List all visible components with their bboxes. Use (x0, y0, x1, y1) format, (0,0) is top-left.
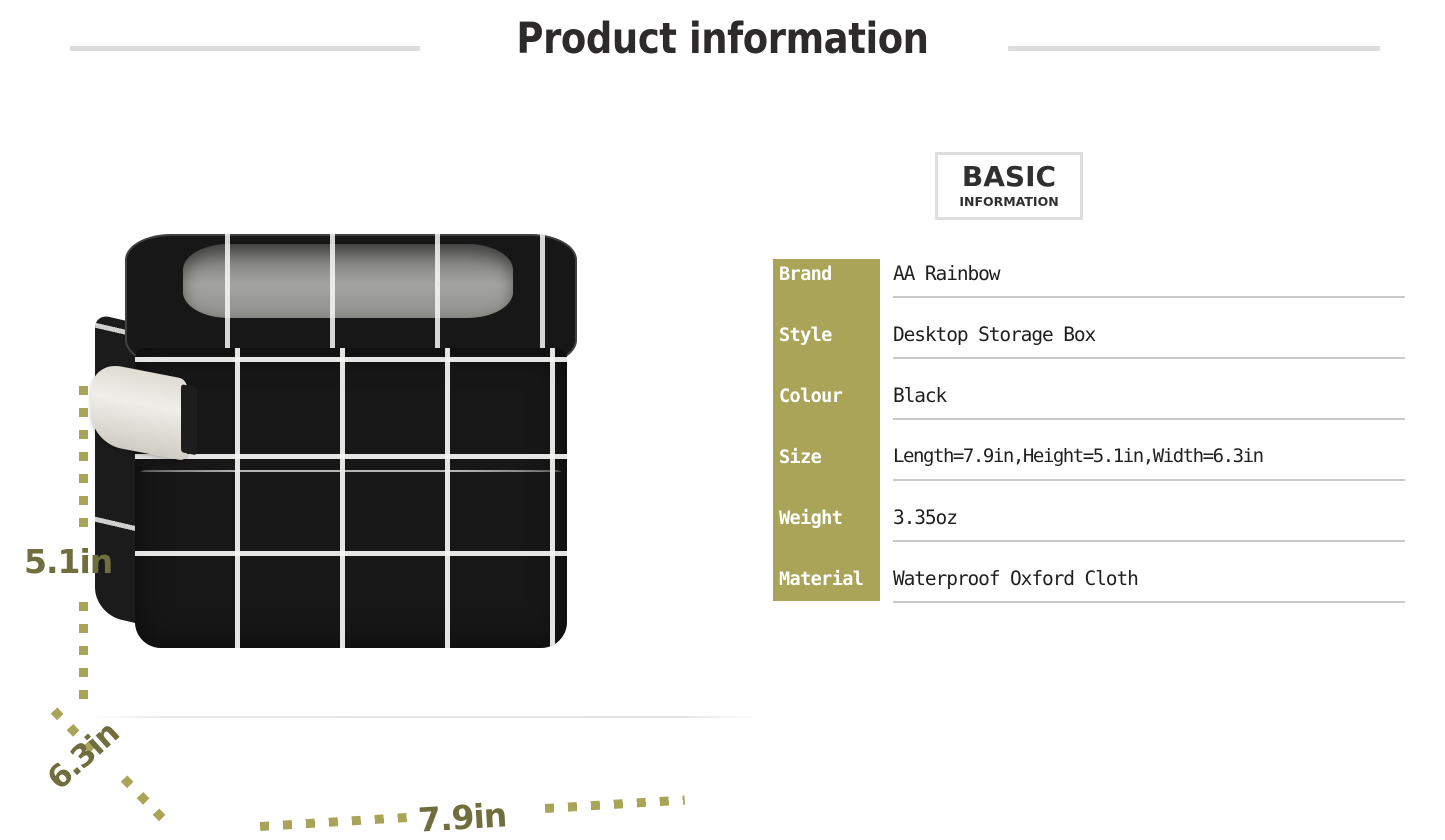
basket-rim-lip (125, 234, 577, 366)
spec-underline (893, 418, 1405, 420)
spec-underline (893, 357, 1405, 359)
spec-label: Colour (779, 386, 880, 407)
depth-dotted-line-lower (121, 775, 171, 826)
spec-value: Desktop Storage Box (893, 323, 1405, 346)
basic-badge-title: BASIC (962, 163, 1056, 191)
spec-value: Black (893, 384, 1405, 407)
spec-underline (893, 296, 1405, 298)
basic-badge-subtitle: INFORMATION (959, 196, 1058, 209)
basket-front-grid (135, 348, 567, 648)
width-dimension-label: 7.9in (417, 795, 507, 839)
height-dimension-label: 5.1in (24, 542, 112, 581)
storage-basket-illustration (95, 220, 685, 660)
specification-table: BrandAA RainbowStyleDesktop Storage BoxC… (773, 250, 1413, 610)
spec-row: BrandAA Rainbow (773, 250, 1413, 311)
spec-value: 3.35oz (893, 506, 1405, 529)
spec-label: Style (779, 325, 880, 346)
spec-value: Waterproof Oxford Cloth (893, 567, 1405, 590)
spec-row: StyleDesktop Storage Box (773, 311, 1413, 372)
page-header: Product information (0, 0, 1445, 100)
spec-row: SizeLength=7.9in,Height=5.1in,Width=6.3i… (773, 433, 1413, 494)
spec-value: Length=7.9in,Height=5.1in,Width=6.3in (893, 445, 1405, 467)
width-dotted-line-right (545, 795, 685, 813)
basket-stitch-line (141, 470, 561, 472)
basic-information-badge: BASIC INFORMATION (935, 152, 1083, 220)
width-dotted-line-left (260, 813, 410, 831)
spec-label: Brand (779, 264, 880, 285)
spec-underline (893, 479, 1405, 481)
height-dotted-line-lower (79, 602, 88, 710)
spec-label: Material (779, 569, 880, 590)
spec-underline (893, 601, 1405, 603)
surface-shadow-line (90, 716, 762, 718)
spec-label: Size (779, 447, 880, 468)
depth-dimension-label: 6.3in (41, 715, 126, 797)
spec-value: AA Rainbow (893, 262, 1405, 285)
spec-underline (893, 540, 1405, 542)
page-title: Product information (101, 14, 1344, 64)
product-information-infographic: Product information 5.1in 7.9in 6.3in (0, 0, 1445, 755)
spec-label: Weight (779, 508, 880, 529)
spec-row: Weight3.35oz (773, 494, 1413, 555)
spec-row: MaterialWaterproof Oxford Cloth (773, 555, 1413, 616)
spec-row-list: BrandAA RainbowStyleDesktop Storage BoxC… (773, 250, 1413, 616)
product-photo: 5.1in 7.9in 6.3in (0, 150, 760, 750)
spec-row: ColourBlack (773, 372, 1413, 433)
height-dotted-line-upper (79, 386, 88, 532)
